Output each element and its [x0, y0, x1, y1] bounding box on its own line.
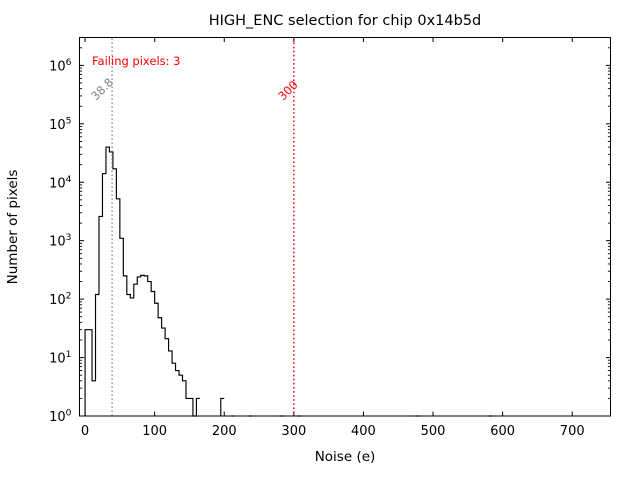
y-tick-label: 101 [49, 349, 71, 367]
y-axis-label: Number of pixels [5, 170, 21, 285]
plot-canvas: HIGH_ENC selection for chip 0x14b5d 1001… [0, 0, 640, 480]
threshold-line-label: 300 [275, 78, 300, 103]
y-tick-label: 100 [49, 408, 72, 426]
histogram-figure: HIGH_ENC selection for chip 0x14b5d 1001… [0, 0, 640, 480]
x-tick-label: 100 [142, 424, 167, 439]
y-axis-minor-ticks [80, 38, 611, 399]
y-tick-label: 105 [49, 115, 72, 133]
x-axis-ticks: 0100200300400500600700 [81, 38, 585, 440]
y-axis-ticks: 100101102103104105106 [49, 57, 610, 425]
x-tick-label: 200 [212, 424, 237, 439]
histogram-steps [85, 147, 492, 416]
x-tick-label: 0 [81, 424, 89, 439]
x-tick-label: 700 [560, 424, 585, 439]
x-tick-label: 600 [490, 424, 515, 439]
y-tick-label: 104 [49, 174, 72, 192]
x-tick-label: 400 [351, 424, 376, 439]
failing-pixels-annotation: Failing pixels: 3 [92, 54, 181, 68]
x-tick-label: 300 [281, 424, 306, 439]
vertical-reference-lines [112, 39, 294, 416]
x-tick-label: 500 [421, 424, 446, 439]
chart-title: HIGH_ENC selection for chip 0x14b5d [209, 13, 482, 29]
y-tick-label: 106 [49, 57, 72, 75]
y-tick-label: 102 [49, 291, 71, 309]
x-axis-label: Noise (e) [315, 449, 376, 465]
axes-frame [80, 38, 611, 417]
y-tick-label: 103 [49, 232, 72, 250]
